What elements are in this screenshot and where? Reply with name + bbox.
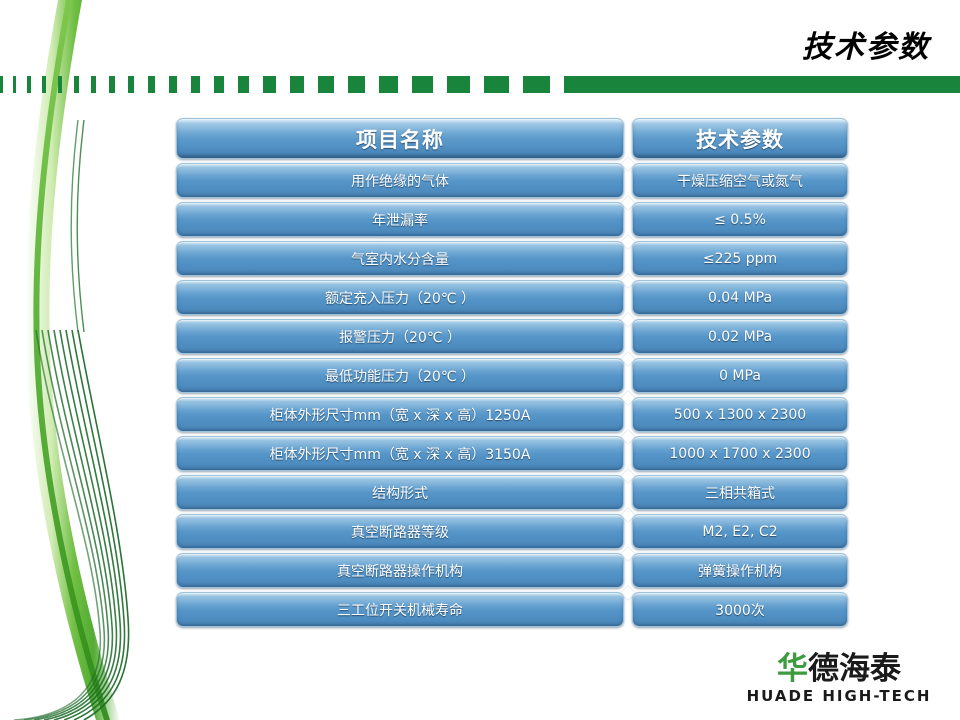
row-label: 柜体外形尺寸mm（宽 x 深 x 高）3150A: [176, 436, 624, 471]
row-label: 结构形式: [176, 475, 624, 510]
row-label: 真空断路器等级: [176, 514, 624, 549]
row-label: 报警压力（20℃ ）: [176, 319, 624, 354]
table-row: 柜体外形尺寸mm（宽 x 深 x 高）1250A 500 x 1300 x 23…: [176, 397, 848, 436]
table-row: 最低功能压力（20℃ ） 0 MPa: [176, 358, 848, 397]
logo-english-name: HUADE HIGH-TECH: [734, 686, 944, 706]
table-row: 柜体外形尺寸mm（宽 x 深 x 高）3150A 1000 x 1700 x 2…: [176, 436, 848, 475]
table-row: 结构形式 三相共箱式: [176, 475, 848, 514]
column-header-item-name: 项目名称: [176, 118, 624, 159]
green-dashed-band: [0, 76, 960, 93]
row-label: 最低功能压力（20℃ ）: [176, 358, 624, 393]
slide-canvas: 技术参数 项目名称 技术参数 用作绝缘的气体 干燥压缩空气或氮气 年泄漏率 ≤ …: [0, 0, 960, 720]
row-label: 柜体外形尺寸mm（宽 x 深 x 高）1250A: [176, 397, 624, 432]
row-value: 三相共箱式: [632, 475, 848, 510]
row-value: M2, E2, C2: [632, 514, 848, 549]
table-row: 真空断路器等级 M2, E2, C2: [176, 514, 848, 553]
row-value: 1000 x 1700 x 2300: [632, 436, 848, 471]
column-header-parameter: 技术参数: [632, 118, 848, 159]
row-value: 0 MPa: [632, 358, 848, 393]
row-value: 0.02 MPa: [632, 319, 848, 354]
table-row: 用作绝缘的气体 干燥压缩空气或氮气: [176, 163, 848, 202]
row-value: 干燥压缩空气或氮气: [632, 163, 848, 198]
company-logo: 华德海泰 HUADE HIGH-TECH: [734, 652, 944, 706]
logo-chinese-name: 华德海泰: [734, 652, 944, 686]
table-row: 报警压力（20℃ ） 0.02 MPa: [176, 319, 848, 358]
logo-leaf-character: 华: [777, 651, 808, 687]
table-row: 额定充入压力（20℃ ） 0.04 MPa: [176, 280, 848, 319]
logo-chinese-rest: 德海泰: [808, 651, 901, 687]
table-row: 三工位开关机械寿命 3000次: [176, 592, 848, 631]
row-value: 500 x 1300 x 2300: [632, 397, 848, 432]
row-label: 用作绝缘的气体: [176, 163, 624, 198]
table-header-row: 项目名称 技术参数: [176, 118, 848, 163]
row-value: 弹簧操作机构: [632, 553, 848, 588]
row-value: ≤ 0.5%: [632, 202, 848, 237]
table-row: 年泄漏率 ≤ 0.5%: [176, 202, 848, 241]
row-label: 额定充入压力（20℃ ）: [176, 280, 624, 315]
table-row: 真空断路器操作机构 弹簧操作机构: [176, 553, 848, 592]
table-row: 气室内水分含量 ≤225 ppm: [176, 241, 848, 280]
technical-parameters-table: 项目名称 技术参数 用作绝缘的气体 干燥压缩空气或氮气 年泄漏率 ≤ 0.5% …: [176, 118, 848, 631]
row-value: ≤225 ppm: [632, 241, 848, 276]
page-title: 技术参数: [802, 28, 930, 68]
row-label: 气室内水分含量: [176, 241, 624, 276]
row-label: 年泄漏率: [176, 202, 624, 237]
row-value: 0.04 MPa: [632, 280, 848, 315]
row-label: 真空断路器操作机构: [176, 553, 624, 588]
green-swoosh-decoration: [0, 0, 200, 720]
row-label: 三工位开关机械寿命: [176, 592, 624, 627]
row-value: 3000次: [632, 592, 848, 627]
